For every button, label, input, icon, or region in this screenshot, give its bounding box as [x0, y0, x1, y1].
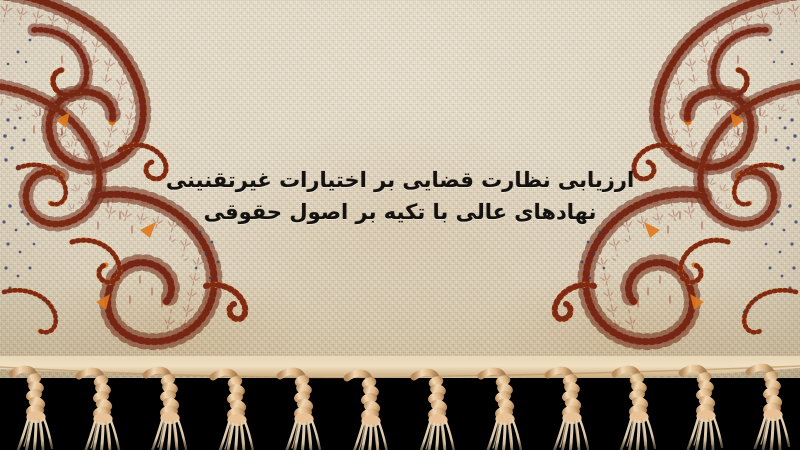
fabric-hem: [0, 352, 800, 378]
paisley-ornament-left: [0, 0, 260, 378]
fabric-panel: [0, 0, 800, 378]
fabric-vignette: [0, 0, 800, 378]
title-card-slide: ارزیابی نظارت قضایی بر اختیارات غیرتقنین…: [0, 0, 800, 450]
fabric-weave-texture-diagonal: [0, 0, 800, 378]
fabric-weave-texture: [0, 0, 800, 378]
black-backdrop: [0, 370, 800, 450]
paisley-ornament-right: [540, 0, 800, 378]
